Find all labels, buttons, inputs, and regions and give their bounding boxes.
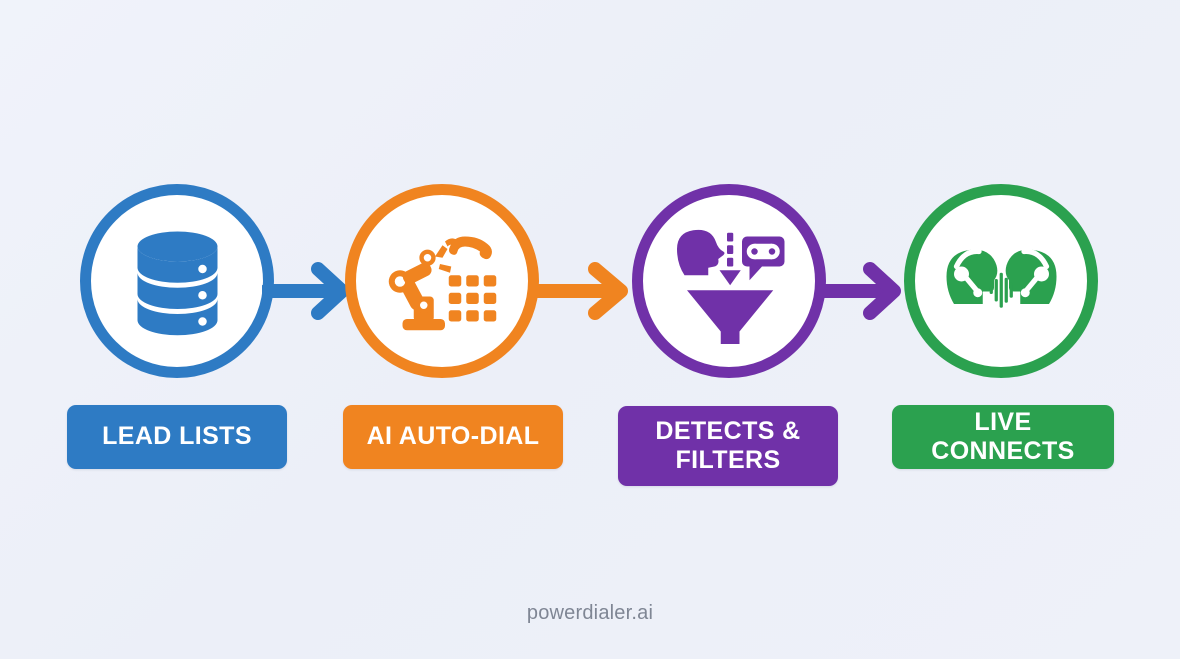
infographic-canvas: LEAD LISTS AI AUTO-DIAL DETECTS & FILTER… <box>0 0 1180 659</box>
step-circle-lead-lists <box>80 184 274 378</box>
robot-arm-phone-keypad-icon <box>380 219 505 344</box>
step-label-text: LIVE CONNECTS <box>902 408 1104 467</box>
step-circle-ai-auto-dial <box>345 184 539 378</box>
step-label-text: LEAD LISTS <box>102 422 252 452</box>
step-label-line-1: DETECTS & <box>655 417 800 447</box>
flow-step-detects-filters[interactable] <box>632 184 826 378</box>
footer-brand: powerdialer.ai <box>0 602 1180 625</box>
step-circle-detects-filters <box>632 184 826 378</box>
step-label-ai-auto-dial[interactable]: AI AUTO-DIAL <box>343 405 563 469</box>
step-label-text: AI AUTO-DIAL <box>367 422 540 452</box>
step-circle-live-connects <box>904 184 1098 378</box>
two-headsets-conversation-icon <box>939 219 1064 344</box>
flow-step-lead-lists[interactable] <box>80 184 274 378</box>
arrow-right-icon-3 <box>818 255 910 327</box>
step-label-text-multiline: DETECTS & FILTERS <box>655 417 800 476</box>
flow-step-ai-auto-dial[interactable] <box>345 184 539 378</box>
voicemail-detect-funnel-icon <box>667 219 792 344</box>
step-label-detects-filters[interactable]: DETECTS & FILTERS <box>618 406 838 486</box>
database-icon <box>115 219 240 344</box>
arrow-right-icon-1 <box>262 255 358 327</box>
process-flow: LEAD LISTS AI AUTO-DIAL DETECTS & FILTER… <box>0 0 1180 659</box>
arrow-right-icon-2 <box>533 255 637 327</box>
step-label-lead-lists[interactable]: LEAD LISTS <box>67 405 287 469</box>
step-label-line-2: FILTERS <box>655 446 800 476</box>
flow-step-live-connects[interactable] <box>904 184 1098 378</box>
brand-text: powerdialer.ai <box>527 602 653 624</box>
step-label-live-connects[interactable]: LIVE CONNECTS <box>892 405 1114 469</box>
